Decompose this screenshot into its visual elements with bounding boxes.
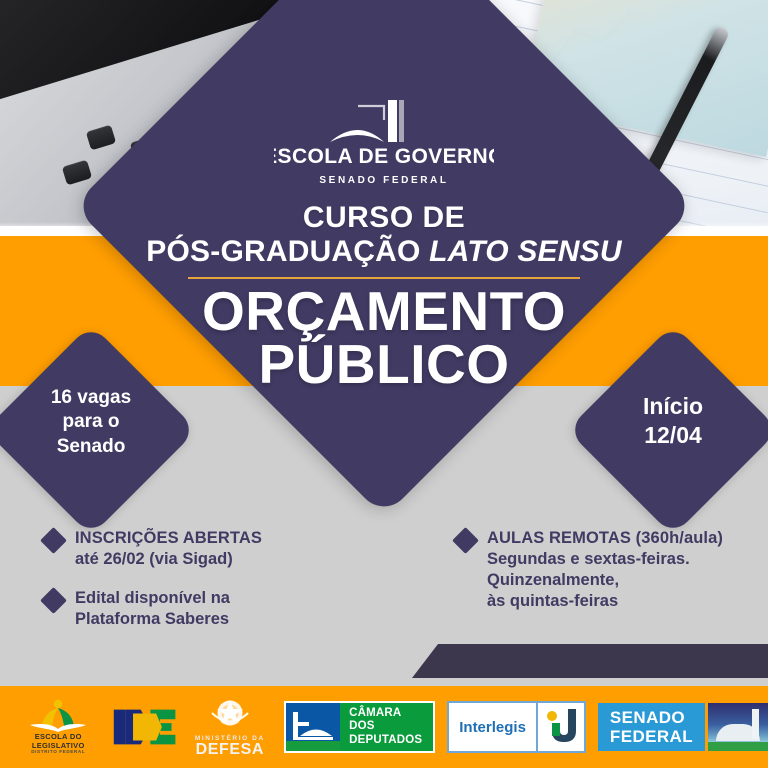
bullet-edital-line1: Edital disponível na: [75, 588, 230, 609]
poster-canvas: ESCOLA DE GOVERNO SENADO FEDERAL CURSO D…: [0, 0, 768, 768]
bullet-inscricoes-line1: INSCRIÇÕES ABERTAS: [75, 528, 262, 549]
senado-label: SENADO FEDERAL: [598, 703, 705, 751]
diamond-bullet-icon: [40, 527, 67, 554]
senado-federal-logo: SENADO FEDERAL: [598, 703, 768, 751]
bullets-right-column: AULAS REMOTAS (360h/aula) Segundas e sex…: [456, 528, 766, 630]
interlegis-logo: Interlegis: [447, 701, 586, 753]
senado-line2: FEDERAL: [610, 727, 693, 746]
senado-congress-icon: [708, 703, 768, 751]
bullet-edital: Edital disponível na Plataforma Saberes: [44, 588, 374, 630]
bullet-edital-text: Edital disponível na Plataforma Saberes: [75, 588, 230, 630]
footer-logo-bar: ESCOLA DO LEGISLATIVO DISTRITO FEDERAL M…: [0, 686, 768, 768]
defesa-line2: DEFESA: [196, 742, 265, 758]
ministerio-da-defesa-logo: MINISTÉRIO DA DEFESA: [186, 694, 275, 760]
bullet-inscricoes-line2: até 26/02 (via Sigad): [75, 549, 262, 570]
camara-symbol-icon: [286, 703, 340, 751]
bullet-aulas-line4: às quintas-feiras: [487, 591, 723, 612]
bullet-inscricoes-text: INSCRIÇÕES ABERTAS até 26/02 (via Sigad): [75, 528, 262, 570]
bullet-aulas: AULAS REMOTAS (360h/aula) Segundas e sex…: [456, 528, 766, 612]
ildf-colored-monogram: [108, 699, 183, 755]
camara-label: CÂMARA DOS DEPUTADOS: [340, 703, 433, 751]
diamond-bullet-icon: [40, 587, 67, 614]
bullet-inscricoes: INSCRIÇÕES ABERTAS até 26/02 (via Sigad): [44, 528, 374, 570]
congress-tower-shape: [752, 709, 759, 739]
diamond-bullet-icon: [452, 527, 479, 554]
escola-do-legislativo-logo: ESCOLA DO LEGISLATIVO DISTRITO FEDERAL: [12, 696, 104, 758]
escola-legislativo-line3: DISTRITO FEDERAL: [31, 750, 85, 755]
camara-green-bar: [286, 741, 340, 751]
dark-accent-bar: [412, 644, 768, 678]
escola-legislativo-text: ESCOLA DO LEGISLATIVO DISTRITO FEDERAL: [31, 733, 85, 754]
camara-dos-deputados-logo: CÂMARA DOS DEPUTADOS: [284, 701, 435, 753]
brasao-nacional-icon: [208, 696, 252, 734]
camara-line1: CÂMARA DOS: [349, 707, 424, 734]
interlegis-label: Interlegis: [449, 703, 536, 751]
bullet-aulas-text: AULAS REMOTAS (360h/aula) Segundas e sex…: [487, 528, 723, 612]
escola-legislativo-book-icon: [27, 699, 89, 733]
camara-line2: DEPUTADOS: [349, 734, 424, 747]
senado-line1: SENADO: [610, 708, 693, 727]
bullet-aulas-line3: Quinzenalmente,: [487, 570, 723, 591]
congress-lawn-shape: [708, 742, 768, 751]
bullet-edital-line2: Plataforma Saberes: [75, 609, 230, 630]
interlegis-j-icon: [538, 703, 584, 749]
bullet-aulas-line2: Segundas e sextas-feiras.: [487, 549, 723, 570]
interlegis-symbol-icon: [536, 703, 584, 751]
bullets-left-column: INSCRIÇÕES ABERTAS até 26/02 (via Sigad)…: [44, 528, 374, 648]
bullet-aulas-line1: AULAS REMOTAS (360h/aula): [487, 528, 723, 549]
